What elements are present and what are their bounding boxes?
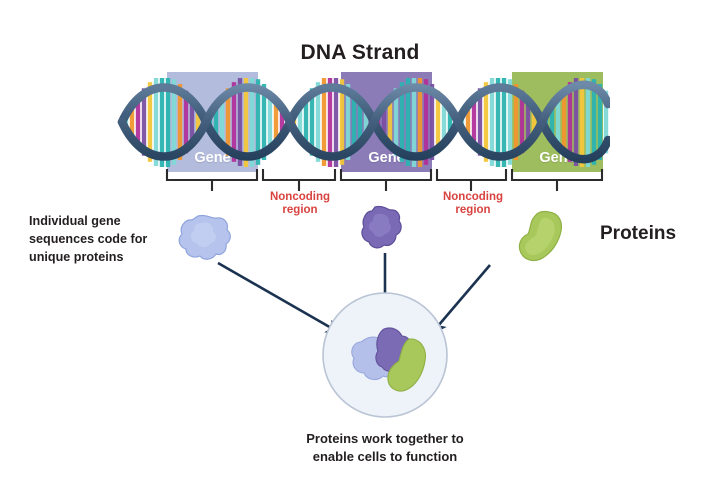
left-caption-line-3: unique proteins xyxy=(29,248,189,266)
left-caption: Individual gene sequences code for uniqu… xyxy=(29,212,189,266)
proteins-label: Proteins xyxy=(600,223,676,245)
bottom-caption-line-2: enable cells to function xyxy=(230,448,540,466)
left-caption-line-1: Individual gene xyxy=(29,212,189,230)
bottom-caption: Proteins work together to enable cells t… xyxy=(230,430,540,466)
region-brackets xyxy=(110,168,620,194)
noncoding-line-1: Noncoding xyxy=(245,191,355,204)
left-caption-line-2: sequences code for xyxy=(29,230,189,248)
base-pair-rungs xyxy=(124,76,608,168)
cell-with-proteins xyxy=(318,288,454,424)
bottom-caption-line-1: Proteins work together to xyxy=(230,430,540,448)
noncoding-region-label-2: Noncoding region xyxy=(418,191,528,217)
noncoding-region-label-1: Noncoding region xyxy=(245,191,355,217)
noncoding-line-1: Noncoding xyxy=(418,191,528,204)
green-protein-blob xyxy=(516,208,568,266)
noncoding-line-2: region xyxy=(245,204,355,217)
page-title: DNA Strand xyxy=(0,41,720,65)
noncoding-line-2: region xyxy=(418,204,528,217)
dna-to-protein-diagram: DNA Strand Gene Gene Gene xyxy=(0,0,720,503)
dna-double-helix xyxy=(110,70,610,175)
